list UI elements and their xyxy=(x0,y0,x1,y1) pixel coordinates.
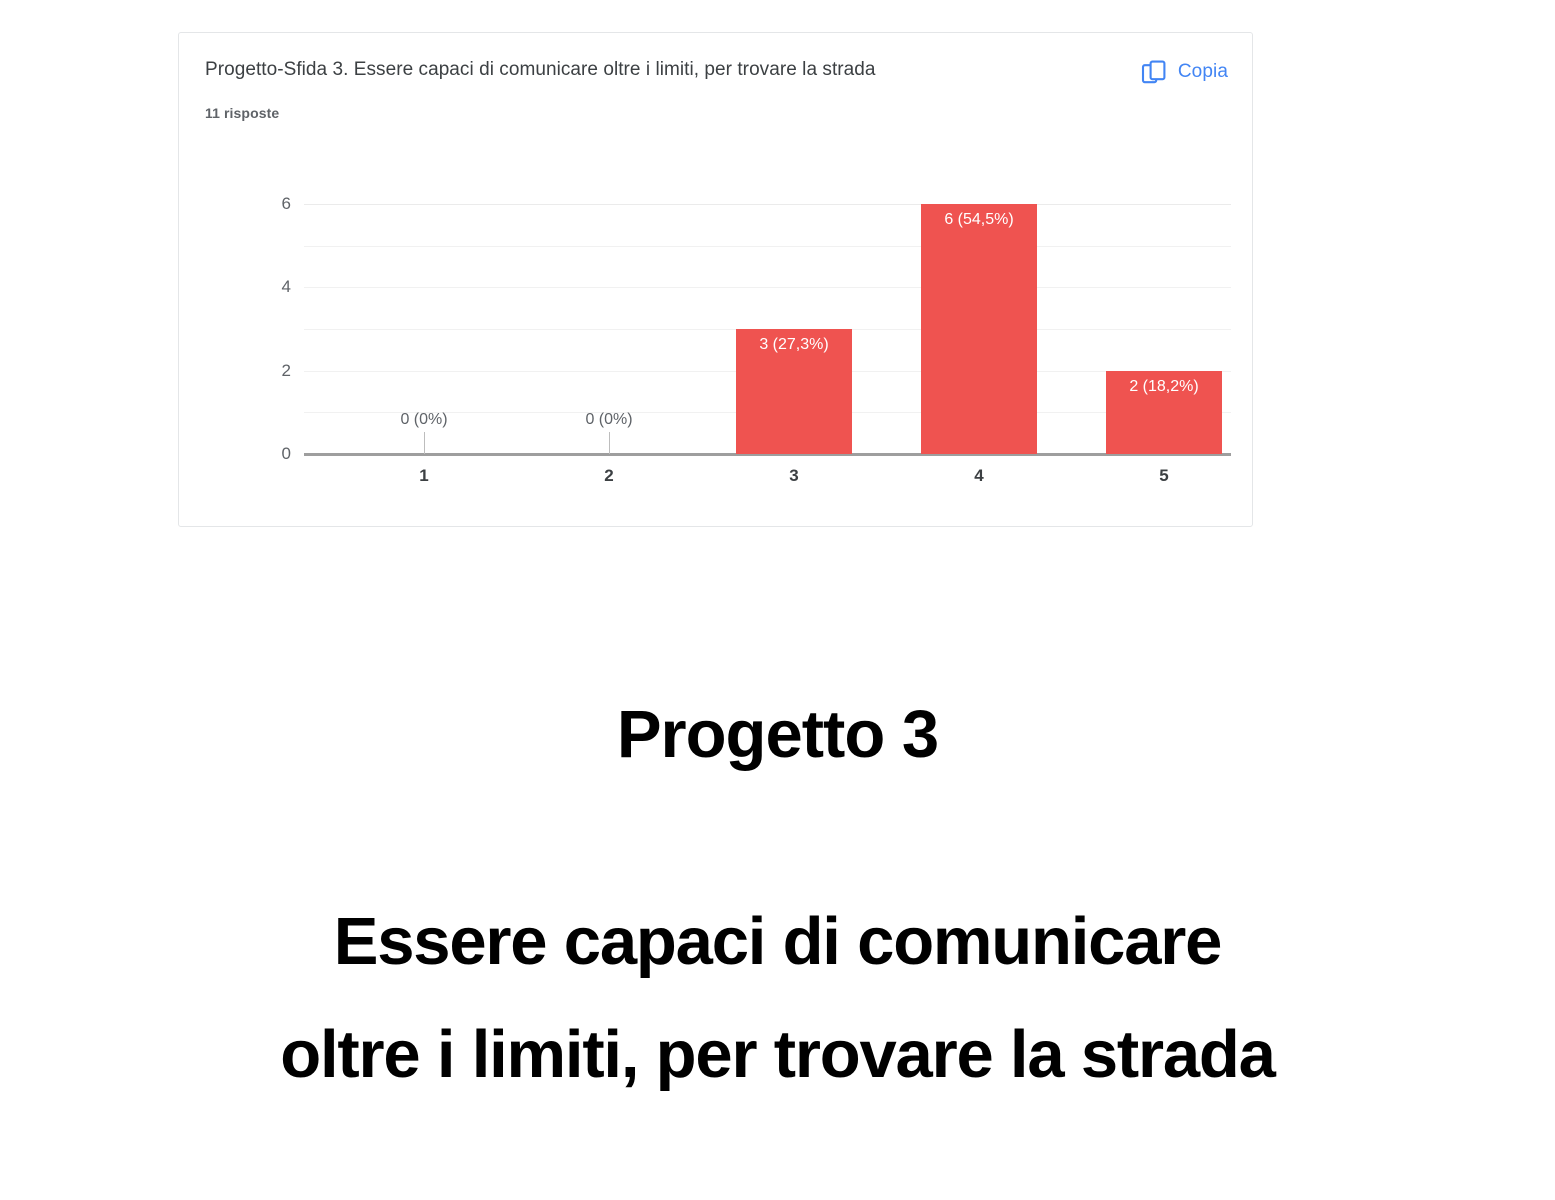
bar-value-label-3: 3 (27,3%) xyxy=(736,336,852,354)
bar-value-label-1: 0 (0%) xyxy=(366,411,482,429)
bar-value-label-2: 0 (0%) xyxy=(551,411,667,429)
zero-stem-1 xyxy=(424,432,425,454)
x-tick-label-3: 3 xyxy=(789,466,798,486)
slide-subheading: Essere capaci di comunicare oltre i limi… xyxy=(0,885,1555,1111)
y-tick-label-2: 2 xyxy=(282,361,291,381)
x-tick-label-4: 4 xyxy=(974,466,983,486)
gridline-4 xyxy=(304,287,1231,288)
bar-value-label-4: 6 (54,5%) xyxy=(921,211,1037,229)
x-tick-label-2: 2 xyxy=(604,466,613,486)
response-count: 11 risposte xyxy=(205,104,279,122)
card-header: Progetto-Sfida 3. Essere capaci di comun… xyxy=(179,33,1252,129)
copy-icon xyxy=(1141,59,1167,85)
slide-heading: Progetto 3 xyxy=(0,695,1555,775)
zero-stem-2 xyxy=(609,432,610,454)
x-tick-label-5: 5 xyxy=(1159,466,1168,486)
bar-chart: 0 2 4 6 0 (0%) 1 0 (0%) 2 3 (27,3%) 3 xyxy=(179,129,1254,528)
slide-subheading-line-2: oltre i limiti, per trovare la strada xyxy=(0,998,1555,1111)
bar-value-label-5: 2 (18,2%) xyxy=(1106,378,1222,396)
y-tick-label-4: 4 xyxy=(282,277,291,297)
plot-area: 0 2 4 6 0 (0%) 1 0 (0%) 2 3 (27,3%) 3 xyxy=(304,204,1231,454)
copy-button-label: Copia xyxy=(1178,61,1228,83)
forms-response-card: Progetto-Sfida 3. Essere capaci di comun… xyxy=(178,32,1253,527)
bar-4: 6 (54,5%) xyxy=(921,204,1037,454)
question-title: Progetto-Sfida 3. Essere capaci di comun… xyxy=(205,58,876,82)
bar-5: 2 (18,2%) xyxy=(1106,371,1222,454)
copy-button[interactable]: Copia xyxy=(1135,55,1234,89)
gridline-6 xyxy=(304,204,1231,205)
y-tick-label-6: 6 xyxy=(282,194,291,214)
slide-subheading-line-1: Essere capaci di comunicare xyxy=(0,885,1555,998)
bar-3: 3 (27,3%) xyxy=(736,329,852,454)
y-tick-label-0: 0 xyxy=(282,444,291,464)
gridline-5 xyxy=(304,246,1231,247)
x-tick-label-1: 1 xyxy=(419,466,428,486)
